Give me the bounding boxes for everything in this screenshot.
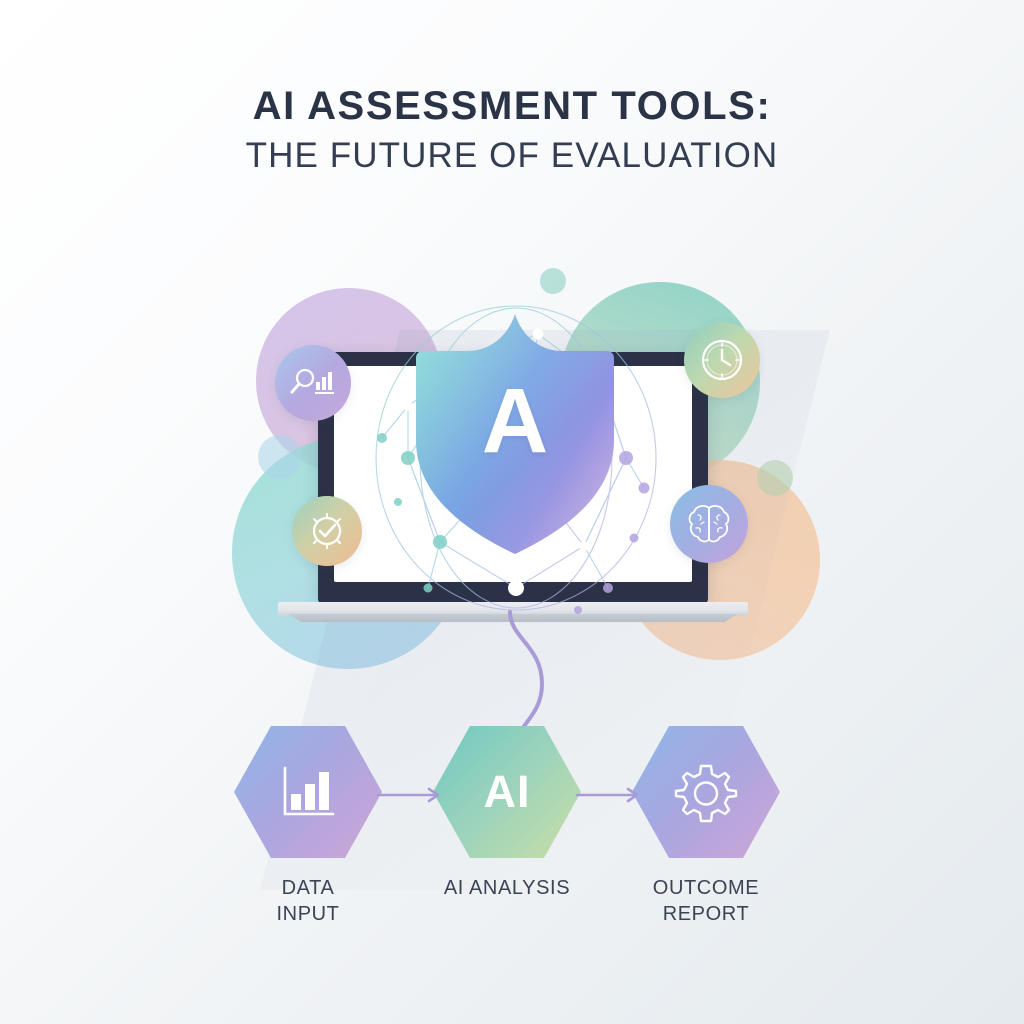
flow-label-line1: AI ANALYSIS: [417, 876, 597, 902]
decorative-dot-green: [757, 460, 793, 496]
flow-label-outcome-report: OUTCOME REPORT: [616, 876, 796, 927]
hex-ai-analysis[interactable]: AI: [433, 726, 581, 858]
flow-arrow-1: [378, 788, 444, 802]
shield-graphic: A: [410, 310, 620, 558]
process-flow: DATA INPUT AI AI ANALYSIS: [0, 726, 1024, 956]
badge-brain[interactable]: [670, 485, 748, 563]
page-title: AI ASSESSMENT TOOLS:: [0, 84, 1024, 129]
flow-label-data-input: DATA INPUT: [218, 876, 398, 927]
decorative-dot-teal: [540, 268, 566, 294]
bar-chart-icon: [277, 764, 339, 820]
laptop-base: [278, 602, 748, 616]
shield-letter: A: [410, 310, 620, 558]
title-block: AI ASSESSMENT TOOLS: THE FUTURE OF EVALU…: [0, 84, 1024, 177]
flow-label-ai-analysis: AI ANALYSIS: [417, 876, 597, 902]
gear-icon: [675, 761, 737, 823]
page-subtitle: THE FUTURE OF EVALUATION: [0, 135, 1024, 177]
flow-label-line1: DATA: [218, 876, 398, 902]
clock-icon: [699, 337, 745, 383]
badge-check[interactable]: [292, 496, 362, 566]
search-analytics-icon: [290, 367, 336, 399]
hex-outcome-report[interactable]: [632, 726, 780, 858]
badge-analytics[interactable]: [275, 345, 351, 421]
laptop-base-lip: [288, 614, 738, 622]
badge-clock[interactable]: [684, 322, 760, 398]
check-circle-icon: [306, 510, 348, 552]
infographic-canvas: AI ASSESSMENT TOOLS: THE FUTURE OF EVALU…: [0, 0, 1024, 1024]
ai-text-icon: AI: [484, 766, 531, 818]
brain-icon: [686, 502, 732, 546]
flow-label-line2: REPORT: [616, 902, 796, 928]
flow-arrow-2: [577, 788, 643, 802]
flow-label-line2: INPUT: [218, 902, 398, 928]
hex-data-input[interactable]: [234, 726, 382, 858]
flow-step-ai-analysis[interactable]: AI AI ANALYSIS: [417, 726, 597, 902]
flow-step-data-input[interactable]: DATA INPUT: [218, 726, 398, 927]
decorative-dot-blue: [258, 435, 302, 479]
flow-label-line1: OUTCOME: [616, 876, 796, 902]
flow-step-outcome-report[interactable]: OUTCOME REPORT: [616, 726, 796, 927]
